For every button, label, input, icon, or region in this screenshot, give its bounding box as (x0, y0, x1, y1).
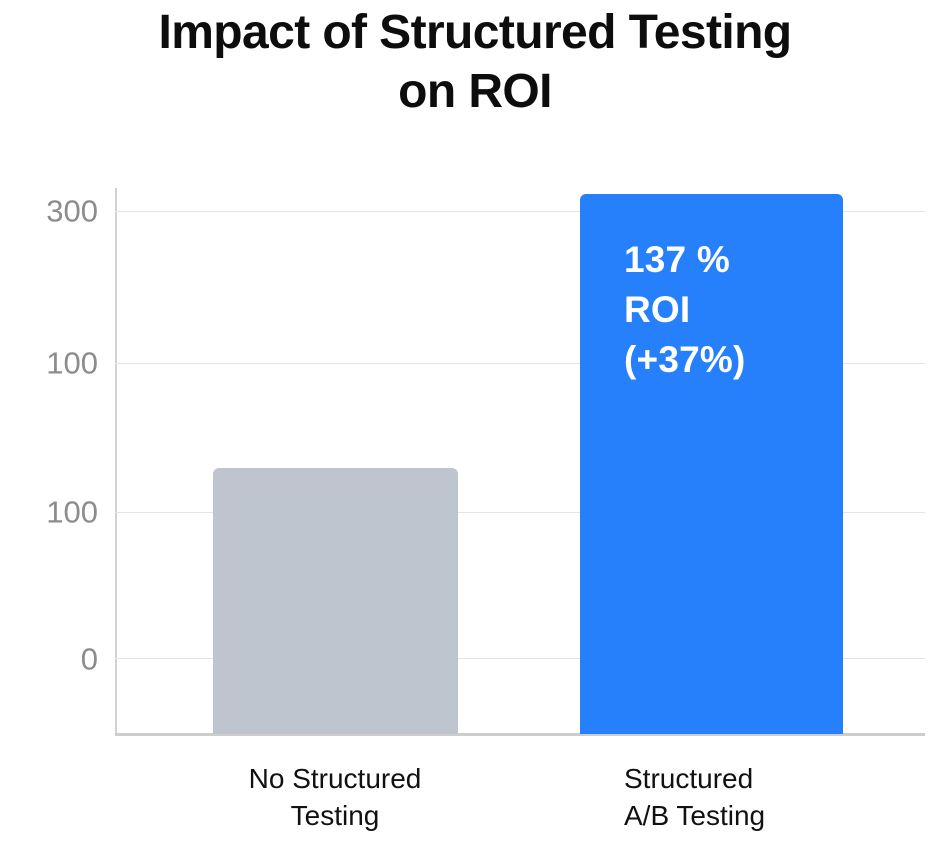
x-tick-label-structured-ab-testing: Structured A/B Testing (624, 760, 944, 834)
y-tick-label-0: 300 (0, 196, 98, 227)
x-tick-label-no-structured-testing: No Structured Testing (155, 760, 515, 834)
chart-title: Impact of Structured Testing on ROI (0, 4, 950, 121)
y-axis-tick-labels: 300 100 100 0 (0, 0, 98, 861)
plot-area: 137 % ROI (+37%) (115, 188, 925, 734)
bar-value-label-structured: 137 % ROI (+37%) (624, 235, 746, 385)
y-tick-label-3: 0 (0, 644, 98, 675)
bar-structured-ab-testing[interactable]: 137 % ROI (+37%) (580, 194, 843, 734)
y-tick-label-2: 100 (0, 497, 98, 528)
y-tick-label-1: 100 (0, 348, 98, 379)
bar-no-structured-testing[interactable] (213, 468, 458, 734)
chart-figure: Impact of Structured Testing on ROI 300 … (0, 0, 950, 861)
